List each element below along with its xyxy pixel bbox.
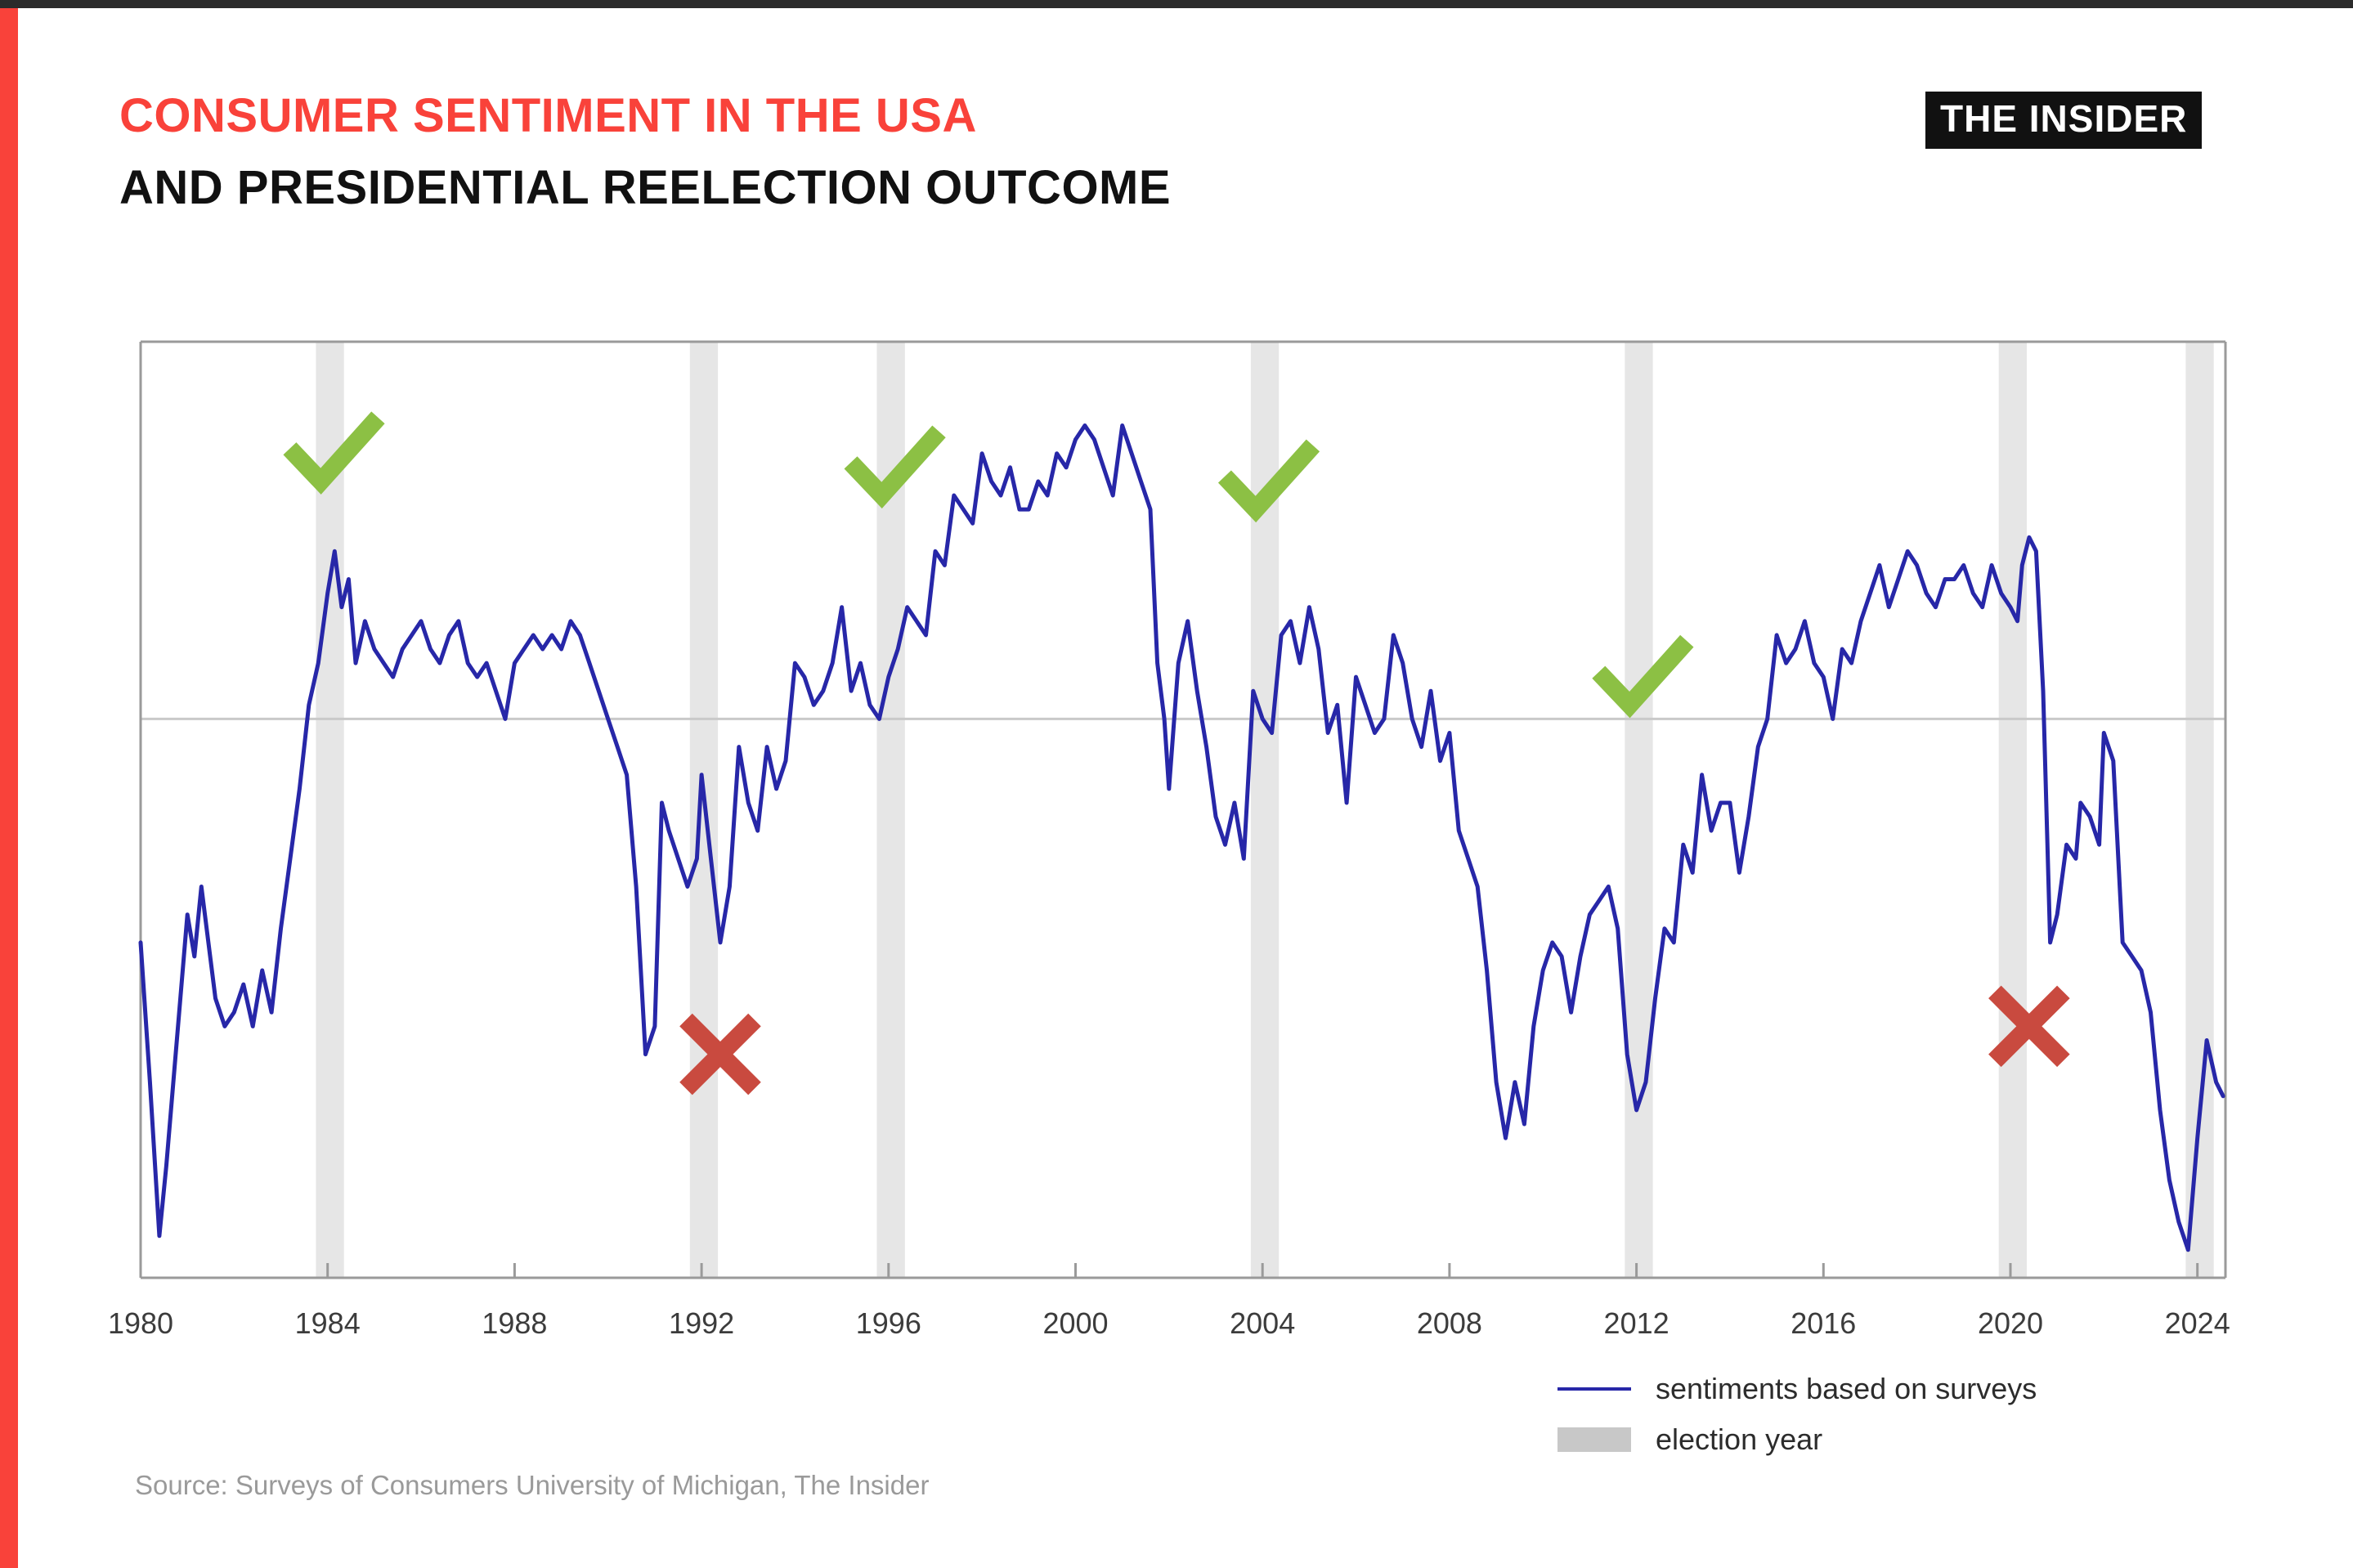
- tick-label-1984: 1984: [295, 1306, 361, 1340]
- election-band-2012: [1625, 342, 1652, 1278]
- legend-band-swatch: [1557, 1427, 1631, 1452]
- chart-legend: sentiments based on surveys election yea…: [1557, 1364, 2146, 1465]
- outcome-markers: [289, 418, 2063, 1089]
- tick-label-2000: 2000: [1042, 1306, 1108, 1340]
- x-axis-tick-labels: 1980198419881992199620002004200820122016…: [108, 1306, 2230, 1340]
- plot-frame: [141, 342, 2225, 1278]
- tick-label-1992: 1992: [669, 1306, 734, 1340]
- tick-label-2016: 2016: [1791, 1306, 1856, 1340]
- tick-label-2004: 2004: [1230, 1306, 1295, 1340]
- legend-series-label: sentiments based on surveys: [1656, 1372, 2037, 1406]
- tick-label-2024: 2024: [2165, 1306, 2230, 1340]
- tick-label-1980: 1980: [108, 1306, 173, 1340]
- source-note: Source: Surveys of Consumers University …: [135, 1470, 929, 1501]
- election-year-bands: [316, 342, 2213, 1278]
- election-band-2020: [1999, 342, 2027, 1278]
- x-axis-ticks: [141, 1263, 2198, 1278]
- tick-label-1988: 1988: [482, 1306, 547, 1340]
- legend-item-band: election year: [1557, 1414, 2146, 1465]
- legend-item-series: sentiments based on surveys: [1557, 1364, 2146, 1414]
- tick-label-1996: 1996: [856, 1306, 921, 1340]
- legend-band-label: election year: [1656, 1422, 1822, 1457]
- line-chart-svg: 1980198419881992199620002004200820122016…: [0, 0, 2353, 1568]
- tick-label-2008: 2008: [1417, 1306, 1482, 1340]
- tick-label-2012: 2012: [1604, 1306, 1670, 1340]
- legend-line-swatch: [1557, 1387, 1631, 1391]
- election-band-2024: [2185, 342, 2213, 1278]
- sentiment-line: [141, 426, 2223, 1250]
- chart-area: 1980198419881992199620002004200820122016…: [0, 0, 2353, 1568]
- tick-label-2020: 2020: [1978, 1306, 2043, 1340]
